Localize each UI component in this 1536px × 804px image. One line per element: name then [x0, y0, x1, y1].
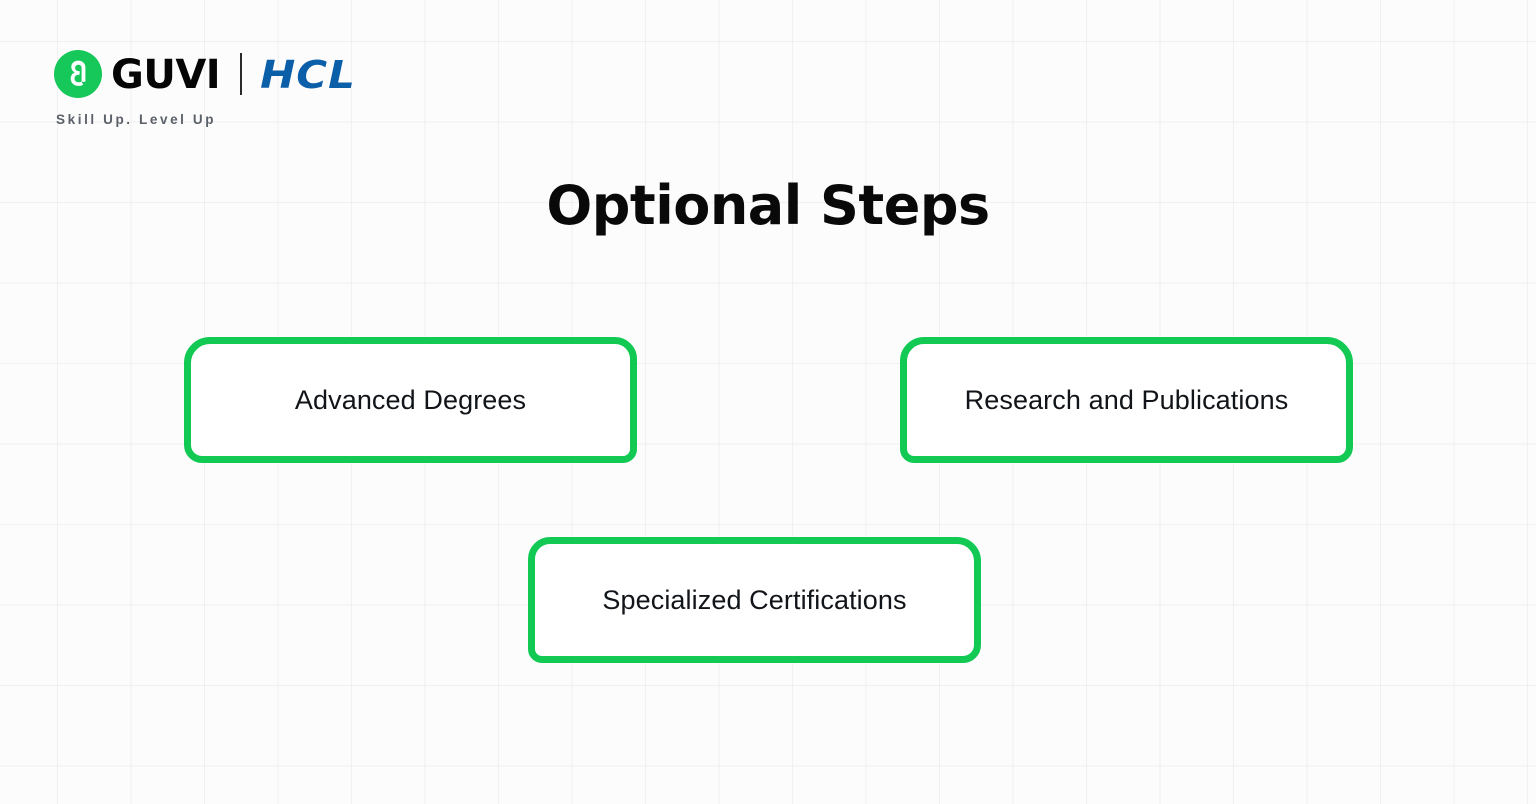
step-card-research-and-publications[interactable]: Research and Publications — [900, 337, 1353, 463]
hcl-wordmark: HCL — [260, 56, 356, 95]
step-card-specialized-certifications[interactable]: Specialized Certifications — [528, 537, 981, 663]
step-card-label: Research and Publications — [965, 385, 1289, 416]
page-title: Optional Steps — [0, 176, 1536, 235]
brand-logo-row: GUVI HCL — [54, 48, 356, 100]
slide-canvas: GUVI HCL Skill Up. Level Up Optional Ste… — [0, 0, 1536, 804]
brand-tagline: Skill Up. Level Up — [56, 112, 216, 127]
step-card-label: Specialized Certifications — [602, 585, 906, 616]
brand-lockup: GUVI HCL Skill Up. Level Up — [54, 48, 356, 127]
brand-divider — [240, 53, 242, 95]
guvi-circle-g-logo-icon — [54, 50, 102, 98]
guvi-wordmark: GUVI — [111, 55, 220, 95]
step-card-label: Advanced Degrees — [295, 385, 526, 416]
step-card-advanced-degrees[interactable]: Advanced Degrees — [184, 337, 637, 463]
